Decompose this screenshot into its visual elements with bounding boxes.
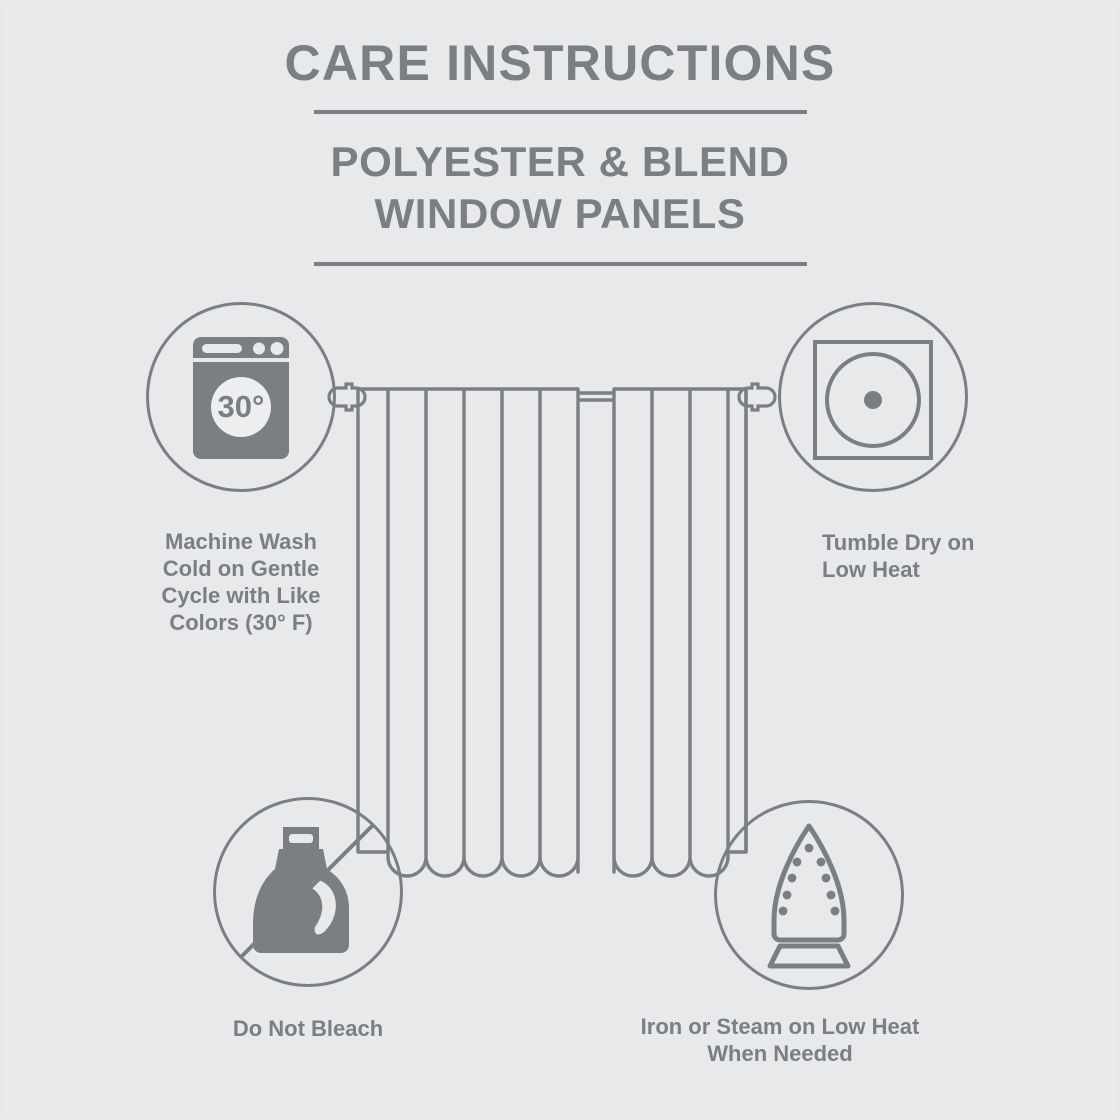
tumble-dry-low-icon	[778, 302, 968, 492]
header: CARE INSTRUCTIONS POLYESTER & BLEND WIND…	[0, 34, 1120, 266]
do-not-bleach-icon	[213, 797, 403, 987]
steam-holes	[779, 844, 840, 916]
symbol-do-not-bleach	[213, 797, 403, 987]
subtitle-divider	[314, 262, 807, 266]
caption-line: Do Not Bleach	[128, 1015, 488, 1042]
wash-temperature-label: 30°	[218, 389, 265, 424]
title-divider	[314, 110, 807, 114]
caption-tumble-dry: Tumble Dry on Low Heat	[822, 529, 1120, 583]
symbol-machine-wash: 30°	[146, 302, 336, 492]
care-instructions-infographic: CARE INSTRUCTIONS POLYESTER & BLEND WIND…	[0, 0, 1120, 1120]
iron-low-heat-icon	[714, 800, 904, 990]
caption-line: Machine Wash	[60, 528, 422, 555]
symbol-tumble-dry	[778, 302, 968, 492]
caption-line: Low Heat	[822, 556, 1120, 583]
caption-line: Colors (30° F)	[60, 609, 422, 636]
caption-line: Iron or Steam on Low Heat	[580, 1013, 980, 1040]
iron-base	[770, 946, 848, 966]
caption-line: Cold on Gentle	[60, 555, 422, 582]
caption-line: When Needed	[580, 1040, 980, 1067]
caption-line: Cycle with Like	[60, 582, 422, 609]
subtitle-line-1: POLYESTER & BLEND	[0, 136, 1120, 188]
subtitle-line-2: WINDOW PANELS	[0, 188, 1120, 240]
low-heat-dot	[864, 391, 882, 409]
symbol-iron-low-heat	[714, 800, 904, 990]
washing-machine-icon: 30°	[146, 302, 336, 492]
caption-machine-wash: Machine Wash Cold on Gentle Cycle with L…	[60, 528, 422, 636]
page-subtitle: POLYESTER & BLEND WINDOW PANELS	[0, 136, 1120, 240]
caption-do-not-bleach: Do Not Bleach	[128, 1015, 488, 1042]
caption-iron-low-heat: Iron or Steam on Low Heat When Needed	[580, 1013, 980, 1067]
page-title: CARE INSTRUCTIONS	[0, 34, 1120, 92]
caption-line: Tumble Dry on	[822, 529, 1120, 556]
